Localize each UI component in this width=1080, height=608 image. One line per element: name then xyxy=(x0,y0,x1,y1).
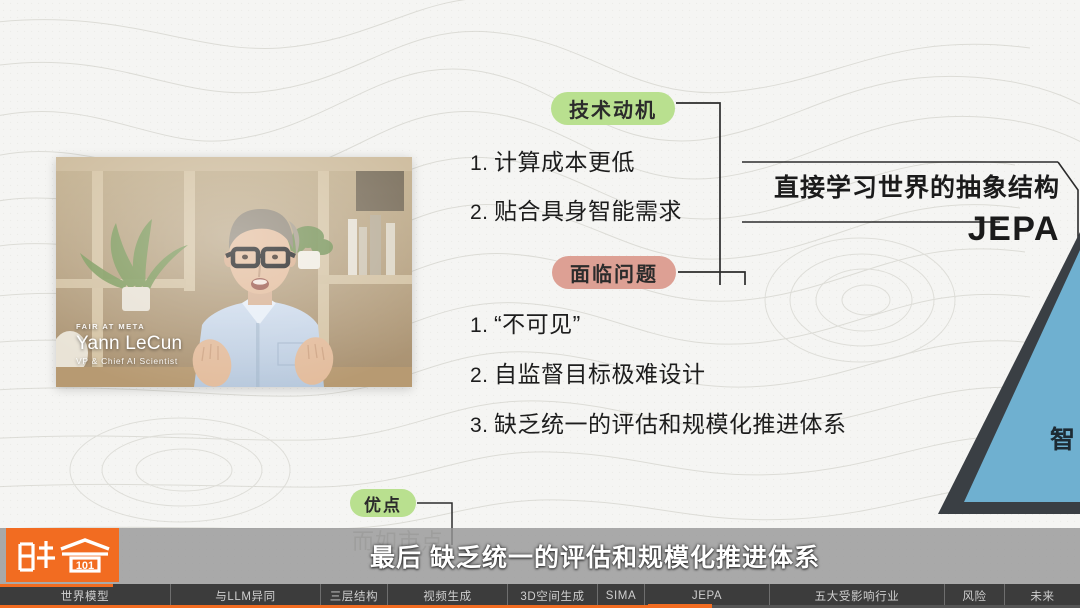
subtitle-caption: 最后 缺乏统一的评估和规模化推进体系 xyxy=(130,528,1060,584)
list-item-number: 2. xyxy=(470,201,494,225)
chapter-bar-top-accent xyxy=(0,584,113,587)
list-item-text: 自监督目标极难设计 xyxy=(494,355,706,389)
list-item-number: 1. xyxy=(470,152,494,176)
list-item: 1. 计算成本更低 xyxy=(470,143,682,177)
slide-canvas: 智 xyxy=(0,0,1080,608)
label-facing-problems: 面临问题 xyxy=(552,256,676,289)
chapter-label: 世界模型 xyxy=(61,588,109,604)
chapter-progress-bar[interactable]: 世界模型 与LLM异同 三层结构 视频生成 3D空间生成 SIMA JEPA 五… xyxy=(0,584,1080,608)
label-pros: 优点 xyxy=(350,489,416,517)
list-item: 2. 自监督目标极难设计 xyxy=(470,355,847,389)
list-item-text: “不可见” xyxy=(494,305,581,339)
speaker-org: FAIR AT META xyxy=(76,323,182,331)
headline-sub: JEPA xyxy=(740,210,1060,249)
chapter-label: 五大受影响行业 xyxy=(815,588,900,604)
channel-logo[interactable]: 101 xyxy=(6,528,119,582)
triangle-label: 智 xyxy=(1050,420,1076,456)
svg-text:101: 101 xyxy=(75,560,93,572)
headline-main: 直接学习世界的抽象结构 xyxy=(740,168,1060,204)
chapter-label: 三层结构 xyxy=(330,588,378,604)
speaker-role: VP & Chief AI Scientist xyxy=(76,357,182,367)
tech-motivation-list: 1. 计算成本更低 2. 贴合具身智能需求 xyxy=(470,143,682,241)
chapter-label: 与LLM异同 xyxy=(215,588,275,604)
list-item-text: 计算成本更低 xyxy=(494,143,635,177)
progress-active-fill xyxy=(648,604,712,608)
chapter-label: 3D空间生成 xyxy=(520,588,584,604)
facing-problems-list: 1. “不可见” 2. 自监督目标极难设计 3. 缺乏统一的评估和规模化推进体系 xyxy=(470,305,847,455)
list-item-text: 缺乏统一的评估和规模化推进体系 xyxy=(494,405,847,439)
chapter-label: 风险 xyxy=(962,588,986,604)
label-tech-motivation: 技术动机 xyxy=(551,92,675,125)
speaker-name: Yann LeCun xyxy=(76,333,182,354)
list-item-number: 1. xyxy=(470,314,494,338)
chapter-label: 未来 xyxy=(1030,588,1054,604)
chapter-label: JEPA xyxy=(692,590,722,602)
blue-triangle-shape xyxy=(930,222,1080,522)
list-item-number: 3. xyxy=(470,414,494,438)
lower-third-overlay: FAIR AT META Yann LeCun VP & Chief AI Sc… xyxy=(76,323,182,367)
list-item: 2. 贴合具身智能需求 xyxy=(470,192,682,226)
list-item: 1. “不可见” xyxy=(470,305,847,339)
chapter-label: SIMA xyxy=(606,590,637,602)
video-thumbnail[interactable]: FAIR AT META Yann LeCun VP & Chief AI Sc… xyxy=(56,157,412,387)
logo-mark: 101 xyxy=(15,535,111,575)
chapter-label: 视频生成 xyxy=(423,588,471,604)
list-item-text: 贴合具身智能需求 xyxy=(494,192,682,226)
list-item: 3. 缺乏统一的评估和规模化推进体系 xyxy=(470,405,847,439)
list-item-number: 2. xyxy=(470,364,494,388)
headline-block: 直接学习世界的抽象结构 JEPA xyxy=(740,168,1060,249)
